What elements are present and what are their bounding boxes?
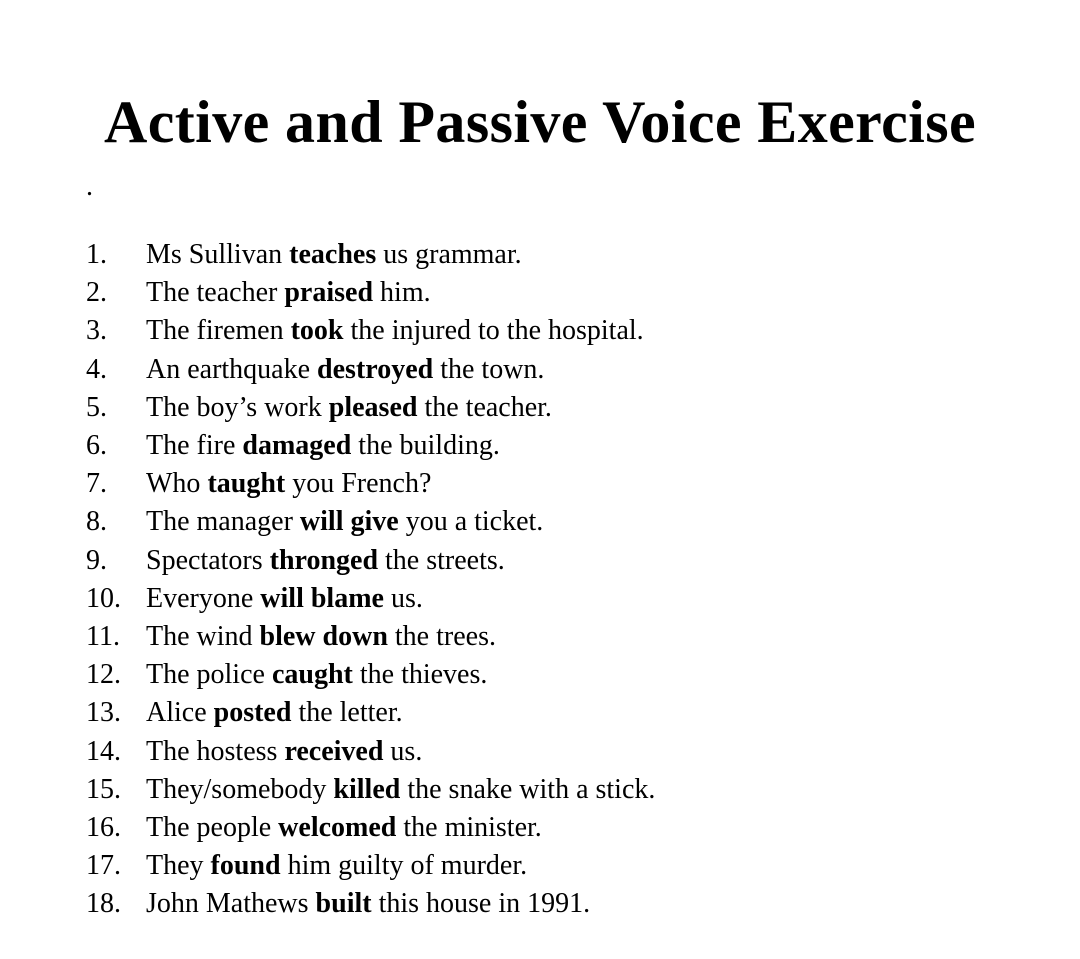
sentence-lead: The manager — [146, 506, 300, 537]
list-item-text: Ms Sullivan teaches us grammar. — [146, 236, 522, 274]
sentence-verb: caught — [272, 659, 353, 690]
sentence-lead: They — [146, 850, 211, 881]
list-item-number: 1. — [86, 236, 146, 274]
list-item-number: 15. — [86, 771, 146, 809]
sentence-tail: us. — [383, 736, 422, 767]
list-item: 17.They found him guilty of murder. — [86, 847, 1046, 885]
list-item-number: 13. — [86, 694, 146, 732]
list-item: 3.The firemen took the injured to the ho… — [86, 312, 1046, 350]
sentence-tail: us grammar. — [376, 239, 521, 270]
sentence-tail: him. — [373, 277, 431, 308]
sentence-tail: this house in 1991. — [372, 888, 591, 919]
list-item-text: The boy’s work pleased the teacher. — [146, 389, 552, 427]
list-item: 8.The manager will give you a ticket. — [86, 503, 1046, 541]
sentence-verb: will blame — [260, 583, 384, 614]
sentence-verb: blew down — [260, 621, 388, 652]
list-item-text: John Mathews built this house in 1991. — [146, 885, 590, 923]
sentence-lead: Everyone — [146, 583, 260, 614]
stray-period-mark: . — [86, 168, 93, 206]
sentence-lead: John Mathews — [146, 888, 316, 919]
list-item-number: 3. — [86, 312, 146, 350]
list-item: 18.John Mathews built this house in 1991… — [86, 885, 1046, 923]
sentence-verb: received — [284, 736, 383, 767]
list-item-text: The wind blew down the trees. — [146, 618, 496, 656]
list-item-text: Spectators thronged the streets. — [146, 542, 505, 580]
list-item: 6.The fire damaged the building. — [86, 427, 1046, 465]
sentence-verb: pleased — [329, 392, 418, 423]
sentence-lead: An earthquake — [146, 354, 317, 385]
sentence-lead: The firemen — [146, 315, 291, 346]
sentence-verb: thronged — [270, 545, 378, 576]
list-item-text: They/somebody killed the snake with a st… — [146, 771, 655, 809]
list-item-number: 10. — [86, 580, 146, 618]
sentence-tail: you French? — [285, 468, 431, 499]
list-item-text: The police caught the thieves. — [146, 656, 487, 694]
list-item-number: 4. — [86, 351, 146, 389]
sentence-verb: destroyed — [317, 354, 433, 385]
list-item-text: The fire damaged the building. — [146, 427, 500, 465]
exercise-list: 1.Ms Sullivan teaches us grammar.2.The t… — [86, 236, 1046, 924]
sentence-lead: The people — [146, 812, 278, 843]
list-item-text: The hostess received us. — [146, 733, 422, 771]
sentence-tail: the town. — [433, 354, 544, 385]
sentence-lead: Who — [146, 468, 207, 499]
sentence-verb: took — [291, 315, 344, 346]
sentence-lead: Ms Sullivan — [146, 239, 289, 270]
sentence-verb: welcomed — [278, 812, 396, 843]
list-item-text: The teacher praised him. — [146, 274, 431, 312]
list-item: 13.Alice posted the letter. — [86, 694, 1046, 732]
sentence-tail: us. — [384, 583, 423, 614]
list-item: 1.Ms Sullivan teaches us grammar. — [86, 236, 1046, 274]
sentence-lead: The police — [146, 659, 272, 690]
sentence-lead: The hostess — [146, 736, 284, 767]
sentence-lead: Spectators — [146, 545, 270, 576]
list-item-number: 5. — [86, 389, 146, 427]
sentence-tail: the injured to the hospital. — [344, 315, 644, 346]
list-item: 2.The teacher praised him. — [86, 274, 1046, 312]
sentence-lead: The wind — [146, 621, 260, 652]
list-item-number: 18. — [86, 885, 146, 923]
document-page: Active and Passive Voice Exercise . 1.Ms… — [0, 0, 1080, 959]
list-item-number: 7. — [86, 465, 146, 503]
sentence-tail: you a ticket. — [399, 506, 544, 537]
list-item: 7.Who taught you French? — [86, 465, 1046, 503]
list-item-text: Who taught you French? — [146, 465, 431, 503]
list-item-text: Alice posted the letter. — [146, 694, 403, 732]
list-item-number: 14. — [86, 733, 146, 771]
list-item-number: 17. — [86, 847, 146, 885]
sentence-lead: They/somebody — [146, 774, 333, 805]
sentence-tail: him guilty of murder. — [281, 850, 528, 881]
list-item: 9.Spectators thronged the streets. — [86, 542, 1046, 580]
list-item: 4.An earthquake destroyed the town. — [86, 351, 1046, 389]
sentence-tail: the trees. — [388, 621, 496, 652]
list-item-number: 12. — [86, 656, 146, 694]
list-item: 15.They/somebody killed the snake with a… — [86, 771, 1046, 809]
sentence-verb: found — [211, 850, 281, 881]
sentence-tail: the building. — [351, 430, 500, 461]
list-item-number: 9. — [86, 542, 146, 580]
sentence-tail: the snake with a stick. — [400, 774, 655, 805]
list-item: 14.The hostess received us. — [86, 733, 1046, 771]
sentence-verb: taught — [207, 468, 285, 499]
sentence-verb: killed — [333, 774, 400, 805]
list-item-number: 11. — [86, 618, 146, 656]
sentence-tail: the minister. — [396, 812, 541, 843]
sentence-verb: will give — [300, 506, 399, 537]
sentence-verb: teaches — [289, 239, 376, 270]
sentence-verb: built — [316, 888, 372, 919]
list-item-number: 16. — [86, 809, 146, 847]
list-item-text: The firemen took the injured to the hosp… — [146, 312, 644, 350]
sentence-tail: the letter. — [291, 697, 402, 728]
list-item-number: 8. — [86, 503, 146, 541]
list-item: 10.Everyone will blame us. — [86, 580, 1046, 618]
sentence-lead: The boy’s work — [146, 392, 329, 423]
sentence-tail: the streets. — [378, 545, 505, 576]
sentence-verb: posted — [214, 697, 292, 728]
sentence-verb: damaged — [242, 430, 351, 461]
list-item-text: The manager will give you a ticket. — [146, 503, 543, 541]
list-item-number: 6. — [86, 427, 146, 465]
page-title: Active and Passive Voice Exercise — [0, 86, 1080, 158]
sentence-lead: The fire — [146, 430, 242, 461]
list-item: 12.The police caught the thieves. — [86, 656, 1046, 694]
sentence-lead: Alice — [146, 697, 214, 728]
list-item: 11.The wind blew down the trees. — [86, 618, 1046, 656]
sentence-tail: the thieves. — [353, 659, 488, 690]
list-item-number: 2. — [86, 274, 146, 312]
list-item-text: Everyone will blame us. — [146, 580, 423, 618]
list-item: 16.The people welcomed the minister. — [86, 809, 1046, 847]
list-item-text: The people welcomed the minister. — [146, 809, 542, 847]
list-item-text: An earthquake destroyed the town. — [146, 351, 544, 389]
sentence-tail: the teacher. — [417, 392, 551, 423]
list-item: 5.The boy’s work pleased the teacher. — [86, 389, 1046, 427]
list-item-text: They found him guilty of murder. — [146, 847, 527, 885]
sentence-lead: The teacher — [146, 277, 284, 308]
sentence-verb: praised — [284, 277, 373, 308]
